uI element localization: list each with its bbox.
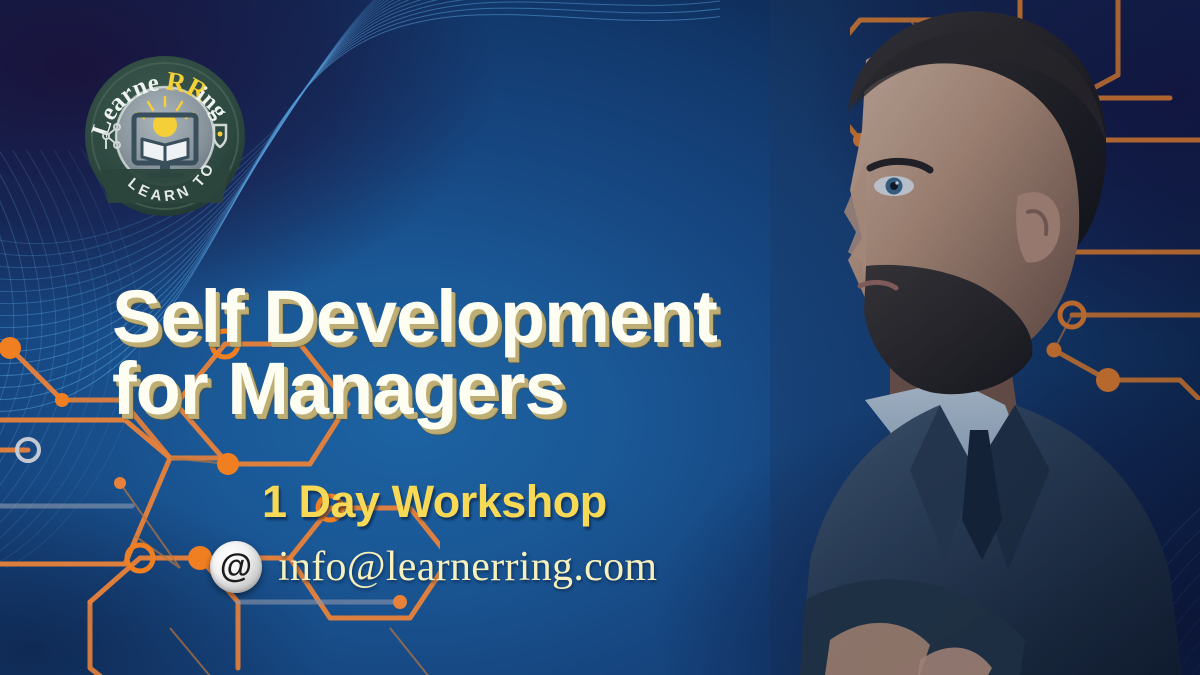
event-banner: Learne RR ing xyxy=(0,0,1200,675)
contact-email-row[interactable]: @ info@learnerring.com xyxy=(210,541,657,593)
event-subtitle: 1 Day Workshop xyxy=(262,476,607,528)
banner-text-content: Self Development for Managers 1 Day Work… xyxy=(0,0,880,675)
event-title: Self Development for Managers xyxy=(112,281,872,425)
at-sign-icon: @ xyxy=(210,541,262,593)
contact-email[interactable]: info@learnerring.com xyxy=(278,543,657,591)
